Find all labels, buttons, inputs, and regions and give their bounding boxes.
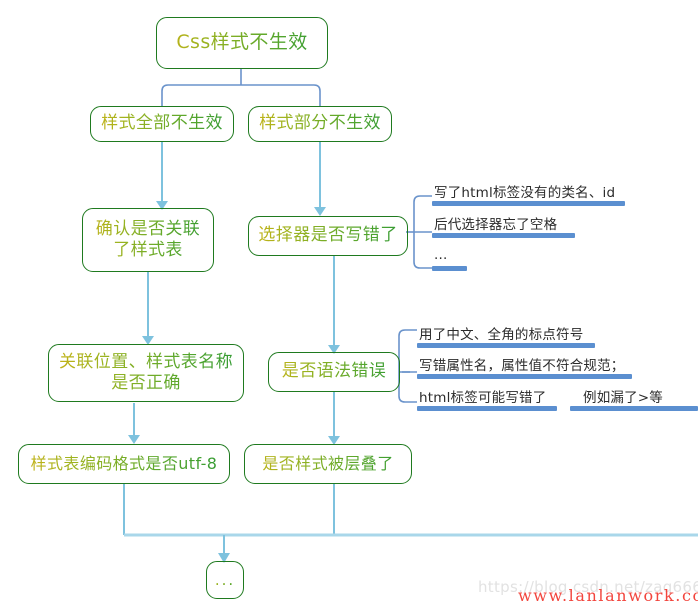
annotation-syntax-3-underline [417, 406, 557, 411]
arrow-left-3 [128, 435, 140, 444]
node-partial-styles-not-working[interactable]: 样式部分不生效 [248, 106, 392, 142]
annotation-syntax-3: html标签可能写错了 [419, 386, 546, 406]
node-confirm-stylesheet-linked-line1: 确认是否关联 [96, 219, 200, 240]
node-root[interactable]: Css样式不生效 [156, 17, 328, 69]
annotation-selector-2: 后代选择器忘了空格 [434, 213, 557, 233]
annotation-selector-1: 写了html标签没有的类名、id [434, 181, 615, 201]
brace-syntax [399, 330, 417, 402]
node-selector-written-wrong[interactable]: 选择器是否写错了 [248, 216, 408, 256]
connector-layer [0, 0, 698, 607]
annotation-syntax-2: 写错属性名，属性值不符合规范； [419, 354, 625, 374]
annotation-syntax-3-extra: 例如漏了>等 [583, 386, 663, 406]
node-style-overridden[interactable]: 是否样式被层叠了 [244, 444, 412, 484]
node-confirm-stylesheet-linked[interactable]: 确认是否关联 了样式表 [82, 208, 214, 272]
node-link-path-and-name-correct-line1: 关联位置、样式表名称 [59, 352, 233, 373]
node-link-path-and-name-correct[interactable]: 关联位置、样式表名称 是否正确 [48, 344, 244, 402]
node-stylesheet-encoding-utf8[interactable]: 样式表编码格式是否utf-8 [18, 444, 230, 484]
watermark-site-url: www.lanlanwork.com [518, 586, 698, 605]
node-syntax-error[interactable]: 是否语法错误 [268, 352, 400, 392]
annotation-syntax-3-extra-underline [570, 406, 698, 411]
annotation-syntax-2-underline [417, 374, 632, 379]
annotation-selector-3-underline [432, 266, 467, 271]
node-all-styles-not-working[interactable]: 样式全部不生效 [90, 106, 234, 142]
annotation-selector-3: ... [434, 247, 447, 263]
annotation-selector-1-underline [432, 201, 625, 206]
brace-selector [414, 196, 432, 268]
node-link-path-and-name-correct-line2: 是否正确 [111, 373, 181, 394]
node-confirm-stylesheet-linked-line2: 了样式表 [113, 240, 183, 261]
annotation-selector-2-underline [432, 233, 575, 238]
node-end-ellipsis[interactable]: ... [206, 561, 244, 599]
arrow-right-1 [314, 207, 326, 216]
annotation-syntax-1-underline [417, 343, 595, 348]
flowchart-canvas: Css样式不生效 样式全部不生效 样式部分不生效 确认是否关联 了样式表 选择器… [0, 0, 698, 607]
connector-root-split [162, 85, 320, 106]
annotation-syntax-1: 用了中文、全角的标点符号 [419, 323, 583, 343]
